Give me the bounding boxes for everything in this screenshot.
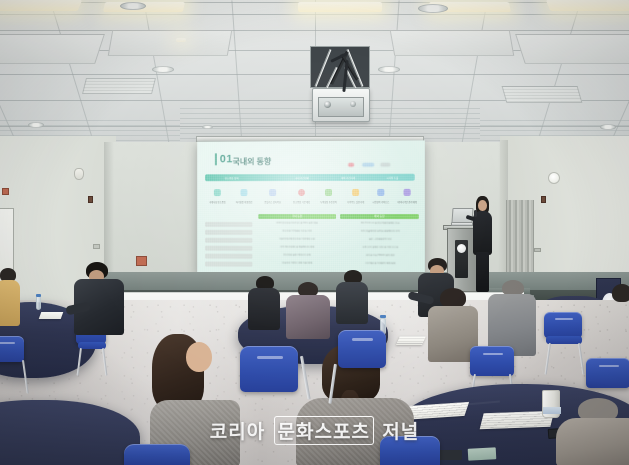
- slide-row-label: [205, 246, 252, 251]
- city-emblem-icon: [457, 244, 466, 253]
- slide-nav-tab: 탄소중립 정책: [209, 176, 254, 180]
- presenter-torso: [473, 211, 492, 255]
- recessed-downlight: [378, 66, 400, 73]
- stacking-chair: [586, 358, 629, 388]
- slide-badge-gray: [380, 163, 390, 167]
- wall-outlet-low-right: [534, 248, 541, 252]
- policy-icon: [214, 189, 221, 196]
- recessed-downlight: [28, 122, 44, 128]
- recessed-panel-light: [298, 2, 382, 12]
- slide-column-header: 국내 동향: [258, 214, 336, 219]
- slide-badge-blue: [362, 163, 374, 167]
- torso: [248, 288, 280, 330]
- extinguisher-cabinet-sign: [136, 256, 147, 266]
- plan-icon: [298, 189, 305, 196]
- chair-handle-slot: [0, 342, 15, 344]
- stacking-chair: [338, 330, 386, 368]
- audience-left-dark: [72, 262, 128, 352]
- chair-handle-slot: [483, 353, 503, 355]
- stacking-chair: [124, 444, 190, 465]
- water-bottle: [36, 296, 41, 310]
- projection-screen: 01 국내외 동향 탄소중립 정책 국내 추진현황 해외 추진사례 시사점 도출…: [197, 140, 425, 275]
- slide-cell-text: 탄소중립 실천 시민운동 전개: [256, 254, 338, 258]
- slide-nav-tab: 시사점 도출: [372, 176, 412, 180]
- slide-icon-cell: 시민참여 거버넌스: [368, 184, 393, 205]
- target-icon: [269, 189, 276, 196]
- slide-icon-cell: 탄소중립 기본계획: [289, 184, 314, 205]
- recessed-downlight: [120, 2, 146, 10]
- presenter-head: [478, 200, 487, 211]
- slide-row-label: [205, 254, 252, 259]
- slide-column-header: 해외 동향: [340, 214, 419, 219]
- air-diffuser: [82, 78, 156, 94]
- notebook: [468, 447, 497, 460]
- slide-icon-cell: 녹색성장 추진전략: [316, 184, 341, 205]
- slide-icon-cell: 데이터기반 관리체계: [394, 184, 419, 205]
- projector-lens: [324, 101, 331, 108]
- wall-clock: [548, 172, 560, 184]
- chair-handle-slot: [352, 338, 373, 341]
- chair-handle-slot: [257, 356, 283, 359]
- growth-icon: [325, 189, 332, 196]
- slide-icon-cell: 파리협정 이행점검: [232, 184, 257, 205]
- outlet-plate: [88, 196, 93, 203]
- recessed-panel-light: [546, 0, 629, 11]
- slide-cell-text: 주요 도시 넷제로 선언 및 이행 로드맵: [338, 246, 423, 250]
- slide-row-label: [205, 238, 252, 243]
- slide-cell-text: EU Fit for 55 및 탄소국경조정제도 도입: [338, 222, 423, 226]
- governance-icon: [377, 189, 384, 196]
- slide-icon-cell: 지역주도 실천과제: [343, 184, 368, 205]
- slide-nav-tab: 국내 추진현황: [280, 176, 324, 180]
- ceiling: [0, 0, 629, 152]
- recessed-panel-light: [176, 38, 186, 42]
- slide-icon-cell: 온실가스 감축목표: [260, 184, 285, 205]
- slide-row-label: [205, 262, 252, 267]
- chair-seat: [546, 336, 582, 344]
- recessed-downlight: [418, 4, 448, 13]
- hair: [440, 288, 466, 308]
- watermark: 코리아 문화스포츠 저널: [0, 416, 629, 445]
- bottle-cap: [380, 315, 386, 318]
- slide-cell-text: 지방자치단체 탄소중립 이행계획 수립: [256, 238, 338, 242]
- slide-row-label: [205, 222, 252, 227]
- wall-speaker: [74, 168, 84, 180]
- stacking-chair: [470, 346, 514, 376]
- slide-cell-text: 일본 그린성장전략 추진: [338, 238, 423, 242]
- recessed-panel-light: [0, 0, 82, 11]
- air-diffuser: [502, 86, 583, 103]
- audience-mid-suit: [336, 270, 372, 328]
- bottle-cap: [36, 294, 41, 297]
- watermark-suffix: 저널: [382, 422, 419, 443]
- handout: [39, 312, 64, 319]
- recessed-downlight: [600, 124, 616, 130]
- torso: [286, 295, 330, 339]
- head: [186, 342, 212, 372]
- wall-switch-plate: [93, 244, 100, 249]
- slide-cell-text: 기후재원 및 국제협력 체계 강화: [338, 262, 423, 266]
- data-icon: [404, 189, 411, 196]
- slide-cell-text: 탄소중립 녹색성장 기본법 시행: [256, 230, 338, 234]
- chair-handle-slot: [555, 318, 573, 320]
- slide-cell-text: 산업부문 저탄소 전환 지원 확대: [256, 262, 338, 266]
- chair-handle-slot: [599, 365, 619, 367]
- projection-screen-surface: 01 국내외 동향 탄소중립 정책 국내 추진현황 해외 추진사례 시사점 도출…: [197, 140, 425, 275]
- projector-lens-secondary: [350, 101, 356, 107]
- agreement-icon: [240, 189, 247, 196]
- outlet-plate-right: [541, 196, 546, 203]
- presenter-at-podium: [470, 196, 496, 292]
- watermark-boxed: 문화스포츠: [274, 416, 374, 445]
- audience-far-right-head: [612, 284, 629, 320]
- slide-row-label: [205, 230, 252, 235]
- slide-title: 국내외 동향: [233, 156, 272, 167]
- slide-cell-text: 지역 에너지전환 및 재생에너지 확대: [256, 246, 338, 250]
- slide-nav-tab: 해외 추진사례: [328, 176, 368, 180]
- torso: [0, 280, 20, 326]
- recessed-downlight: [152, 66, 174, 73]
- audience-left-yellow: [0, 268, 24, 338]
- audience-mid-black: [248, 276, 284, 336]
- audience-mid-puffer: [286, 282, 334, 346]
- stacking-chair: [544, 312, 582, 338]
- slide-icon-cell: 국제사회 탄소중립: [205, 184, 230, 205]
- slide-cell-text: 미국 인플레이션 감축법 청정에너지 투자: [338, 230, 423, 234]
- recessed-downlight: [202, 125, 213, 129]
- local-action-icon: [352, 189, 359, 196]
- slide-number: 01: [215, 153, 233, 165]
- watermark-prefix: 코리아: [210, 422, 265, 443]
- slide-badge-red: [348, 163, 354, 167]
- slide-cell-text: 2050 탄소중립 시나리오 및 NDC 상향 확정: [256, 222, 338, 226]
- microphone-icon: [474, 210, 477, 217]
- torso: [336, 282, 368, 324]
- fire-extinguisher-sign: [2, 188, 9, 195]
- hair: [612, 284, 629, 302]
- stacking-chair: [0, 336, 24, 362]
- photo-scene: 01 국내외 동향 탄소중립 정책 국내 추진현황 해외 추진사례 시사점 도출…: [0, 0, 629, 465]
- stacking-chair: [240, 346, 298, 392]
- slide-cell-text: 글로벌 기업 RE100 참여 확산: [338, 254, 423, 258]
